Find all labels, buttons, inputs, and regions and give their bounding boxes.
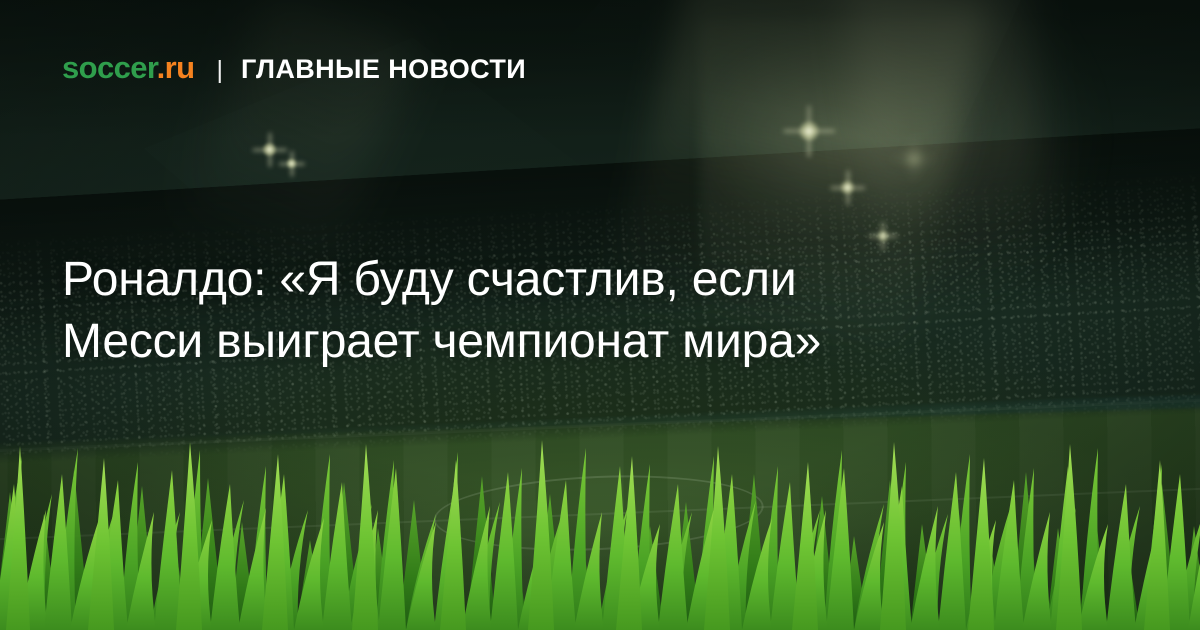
header-kicker: ГЛАВНЫЕ НОВОСТИ	[241, 56, 526, 83]
headline-line-1: Роналдо: «Я буду счастлив, если	[62, 249, 1062, 311]
headline-line-2: Месси выиграет чемпионат мира»	[62, 311, 1062, 373]
logo-tld: .ru	[157, 50, 195, 85]
news-share-card: soccer.ru | ГЛАВНЫЕ НОВОСТИ Роналдо: «Я …	[0, 0, 1200, 630]
header-separator: |	[216, 58, 223, 83]
logo-name: soccer	[62, 50, 157, 85]
site-header: soccer.ru | ГЛАВНЫЕ НОВОСТИ	[62, 52, 526, 83]
foreground-grass	[0, 440, 1200, 630]
soccer-ru-logo[interactable]: soccer.ru	[62, 52, 194, 83]
article-headline: Роналдо: «Я буду счастлив, если Месси вы…	[62, 249, 1062, 373]
